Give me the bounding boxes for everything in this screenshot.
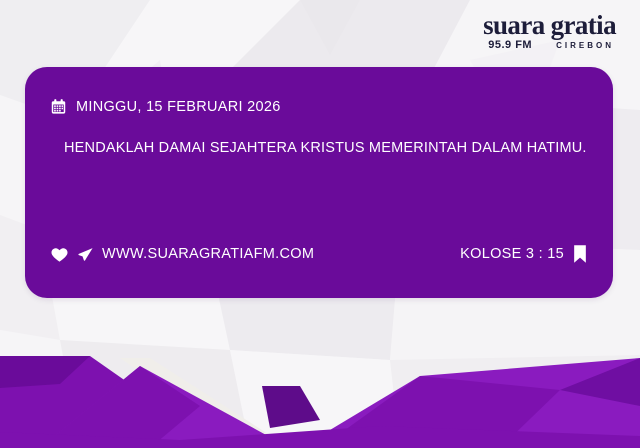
verse-reference: KOLOSE 3 : 15 (460, 246, 564, 262)
date-text: MINGGU, 15 FEBRUARI 2026 (76, 99, 281, 115)
calendar-icon (50, 98, 67, 115)
date-row: MINGGU, 15 FEBRUARI 2026 (50, 98, 281, 115)
logo-city: CIREBON (556, 42, 614, 50)
logo-subline: 95.9 FM CIREBON (483, 40, 614, 51)
logo-word-suara: suara (483, 12, 545, 39)
logo-word-gratia: gratia (551, 12, 616, 39)
bookmark-icon (572, 244, 588, 264)
station-logo: suara gratia 95.9 FM CIREBON (483, 12, 616, 51)
verse-card: MINGGU, 15 FEBRUARI 2026 HENDAKLAH DAMAI… (25, 67, 613, 298)
bottom-mountains (0, 328, 640, 448)
heart-icon (50, 245, 69, 264)
logo-frequency: 95.9 FM (488, 40, 532, 51)
logo-wordmark: suara gratia (483, 12, 616, 39)
website-text: WWW.SUARAGRATIAFM.COM (102, 246, 314, 262)
poster-canvas: suara gratia 95.9 FM CIREBON (0, 0, 640, 448)
reference-group: KOLOSE 3 : 15 (460, 244, 588, 264)
website-group[interactable]: WWW.SUARAGRATIAFM.COM (50, 245, 314, 264)
card-footer: WWW.SUARAGRATIAFM.COM KOLOSE 3 : 15 (50, 244, 588, 264)
verse-text: HENDAKLAH DAMAI SEJAHTERA KRISTUS MEMERI… (64, 139, 587, 159)
paper-plane-icon (77, 246, 94, 263)
